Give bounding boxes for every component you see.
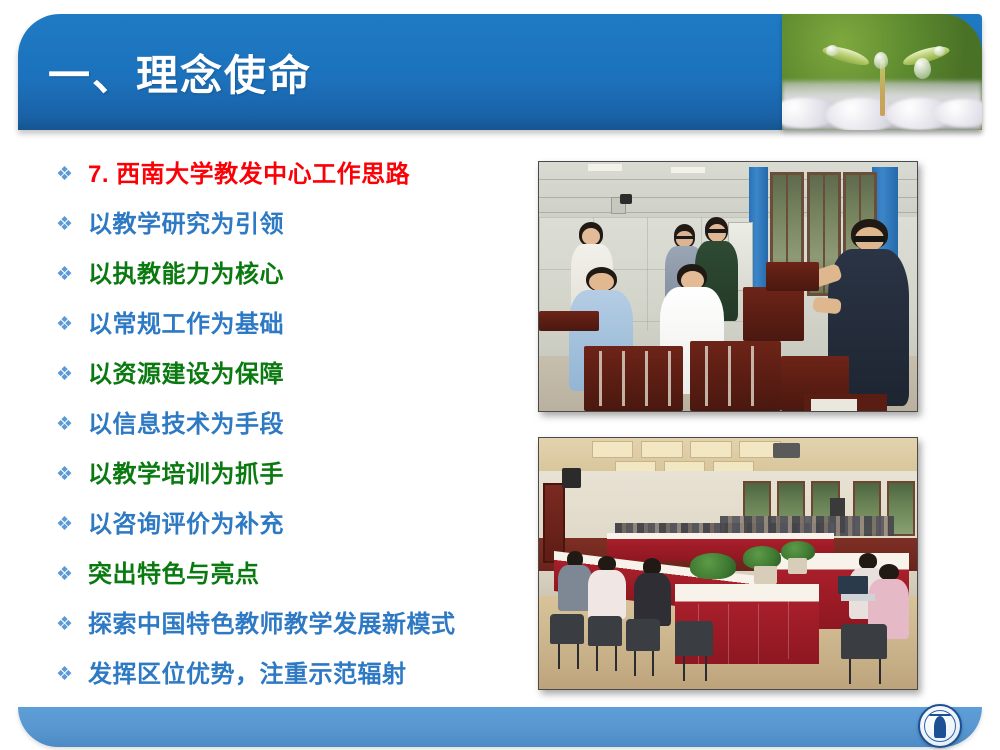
list-item-label: 以执教能力为核心 <box>88 258 516 292</box>
conference-room-photo <box>538 437 918 690</box>
chair <box>550 614 584 644</box>
list-item[interactable]: ❖ 以资源建设为保障 <box>56 358 516 408</box>
person-seated <box>558 551 592 611</box>
diamond-bullet-icon: ❖ <box>56 208 88 242</box>
list-item-label: 探索中国特色教师教学发展新模式 <box>88 608 516 642</box>
eyeglasses-icon <box>707 229 727 233</box>
laptop-base <box>841 594 875 602</box>
list-item[interactable]: ❖ 以教学研究为引领 <box>56 208 516 258</box>
laptop <box>838 576 868 594</box>
eyeglasses-icon <box>675 236 693 240</box>
logo-emblem-icon <box>934 716 946 738</box>
diamond-bullet-icon: ❖ <box>56 658 88 692</box>
person-seated <box>634 558 672 626</box>
diamond-bullet-icon: ❖ <box>56 158 88 192</box>
bullet-list: ❖ 7. 西南大学教发中心工作思路 ❖ 以教学研究为引领 ❖ 以执教能力为核心 … <box>56 158 516 708</box>
person-seated <box>588 556 626 619</box>
presentation-slide: 一、理念使命 ❖ 7. 西南大学教发中心工作思路 ❖ 以教学研究为引领 ❖ 以执… <box>0 0 1000 750</box>
list-item-label: 7. 西南大学教发中心工作思路 <box>88 158 516 192</box>
chair <box>675 621 713 656</box>
wall-speaker <box>562 468 581 488</box>
projector <box>773 443 799 458</box>
lecture-desk <box>743 287 803 342</box>
security-camera-icon <box>620 194 631 204</box>
list-item[interactable]: ❖ 7. 西南大学教发中心工作思路 <box>56 158 516 208</box>
diamond-bullet-icon: ❖ <box>56 308 88 342</box>
diamond-bullet-icon: ❖ <box>56 458 88 492</box>
list-item-label: 以信息技术为手段 <box>88 408 516 442</box>
classroom-photo <box>538 161 918 412</box>
gesturing-hand <box>812 296 842 314</box>
list-item[interactable]: ❖ 以教学培训为抓手 <box>56 458 516 508</box>
potted-plant <box>690 553 735 578</box>
chair <box>841 624 886 659</box>
paper-sheet <box>811 399 856 411</box>
list-item-label: 以资源建设为保障 <box>88 358 516 392</box>
dew-drop <box>914 58 931 79</box>
ceiling-light <box>671 167 705 173</box>
university-seal-logo <box>918 704 962 748</box>
page-title: 一、理念使命 <box>48 42 312 103</box>
lecture-desk <box>539 311 599 331</box>
list-item[interactable]: ❖ 以信息技术为手段 <box>56 408 516 458</box>
diamond-bullet-icon: ❖ <box>56 608 88 642</box>
pebble-shape <box>934 99 982 127</box>
header-decorative-photo <box>782 14 982 130</box>
chair <box>588 616 622 646</box>
diamond-bullet-icon: ❖ <box>56 508 88 542</box>
diamond-bullet-icon: ❖ <box>56 558 88 592</box>
lecture-desk <box>766 262 819 292</box>
list-item-label: 以咨询评价为补充 <box>88 508 516 542</box>
dew-drop <box>874 52 888 69</box>
ceiling-light <box>588 164 622 170</box>
chair <box>626 619 660 652</box>
list-item[interactable]: ❖ 探索中国特色教师教学发展新模式 <box>56 608 516 658</box>
slide-footer-band <box>18 707 982 747</box>
list-item-label: 发挥区位优势，注重示范辐射 <box>88 658 516 692</box>
list-item[interactable]: ❖ 以咨询评价为补充 <box>56 508 516 558</box>
list-item-label: 以常规工作为基础 <box>88 308 516 342</box>
diamond-bullet-icon: ❖ <box>56 358 88 392</box>
list-item-label: 突出特色与亮点 <box>88 558 516 592</box>
list-item-label: 以教学培训为抓手 <box>88 458 516 492</box>
list-item[interactable]: ❖ 发挥区位优势，注重示范辐射 <box>56 658 516 708</box>
list-item[interactable]: ❖ 以执教能力为核心 <box>56 258 516 308</box>
list-item[interactable]: ❖ 突出特色与亮点 <box>56 558 516 608</box>
lecture-desk <box>690 341 781 411</box>
diamond-bullet-icon: ❖ <box>56 258 88 292</box>
list-item[interactable]: ❖ 以常规工作为基础 <box>56 308 516 358</box>
list-item-label: 以教学研究为引领 <box>88 208 516 242</box>
diamond-bullet-icon: ❖ <box>56 408 88 442</box>
eyeglasses-icon <box>854 236 886 242</box>
